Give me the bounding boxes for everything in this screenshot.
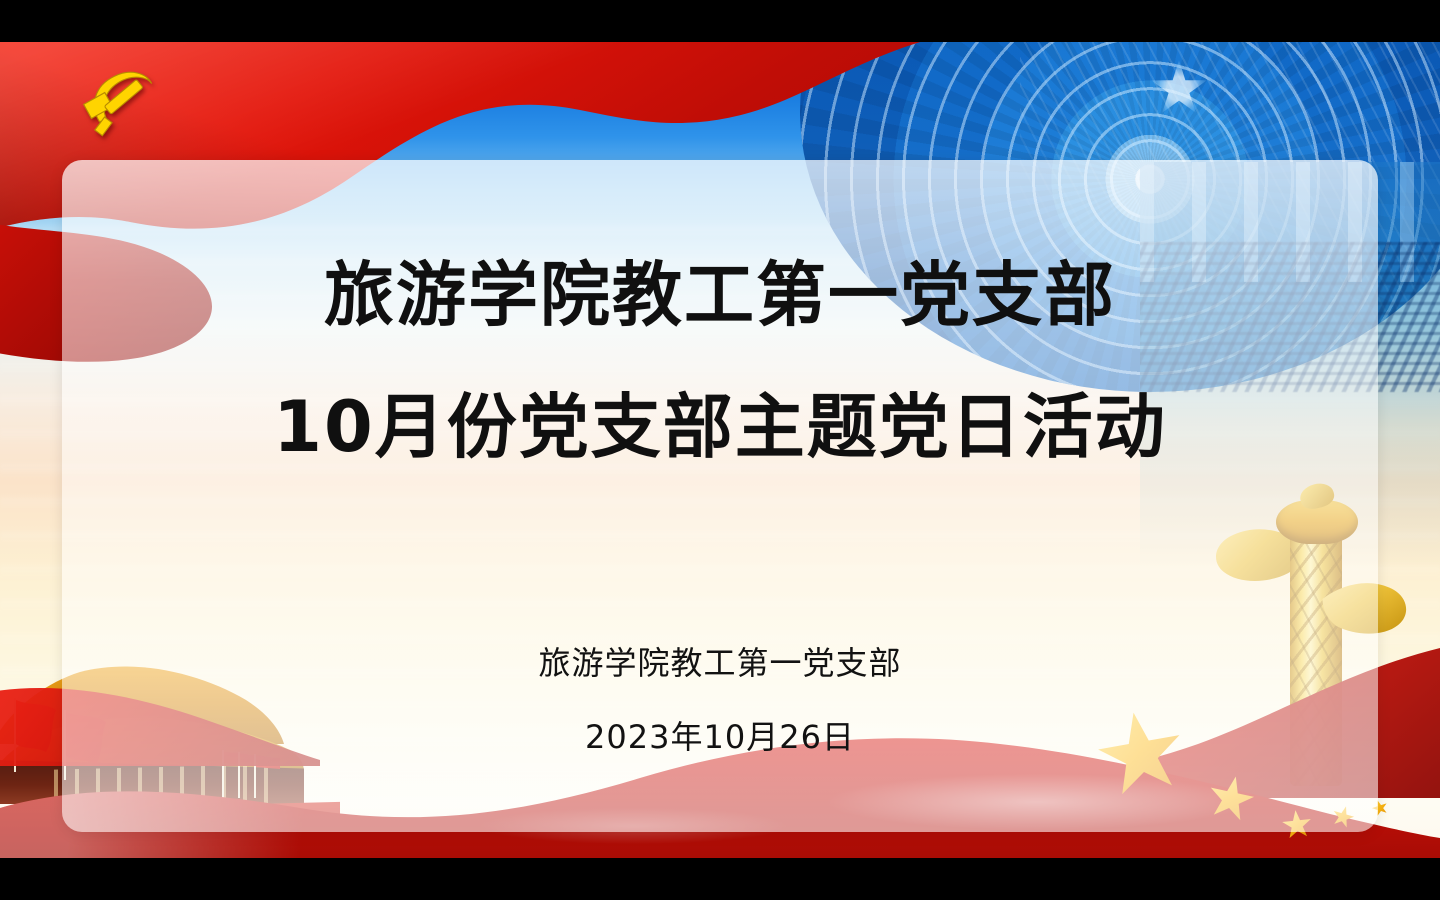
letterbox-bar-top — [0, 0, 1440, 42]
content-card — [62, 160, 1378, 832]
cpc-party-emblem-icon — [68, 64, 164, 142]
letterbox-bar-bottom — [0, 858, 1440, 900]
presentation-slide: 中华人民共和国万岁 世界人民大团结万岁 — [0, 0, 1440, 900]
